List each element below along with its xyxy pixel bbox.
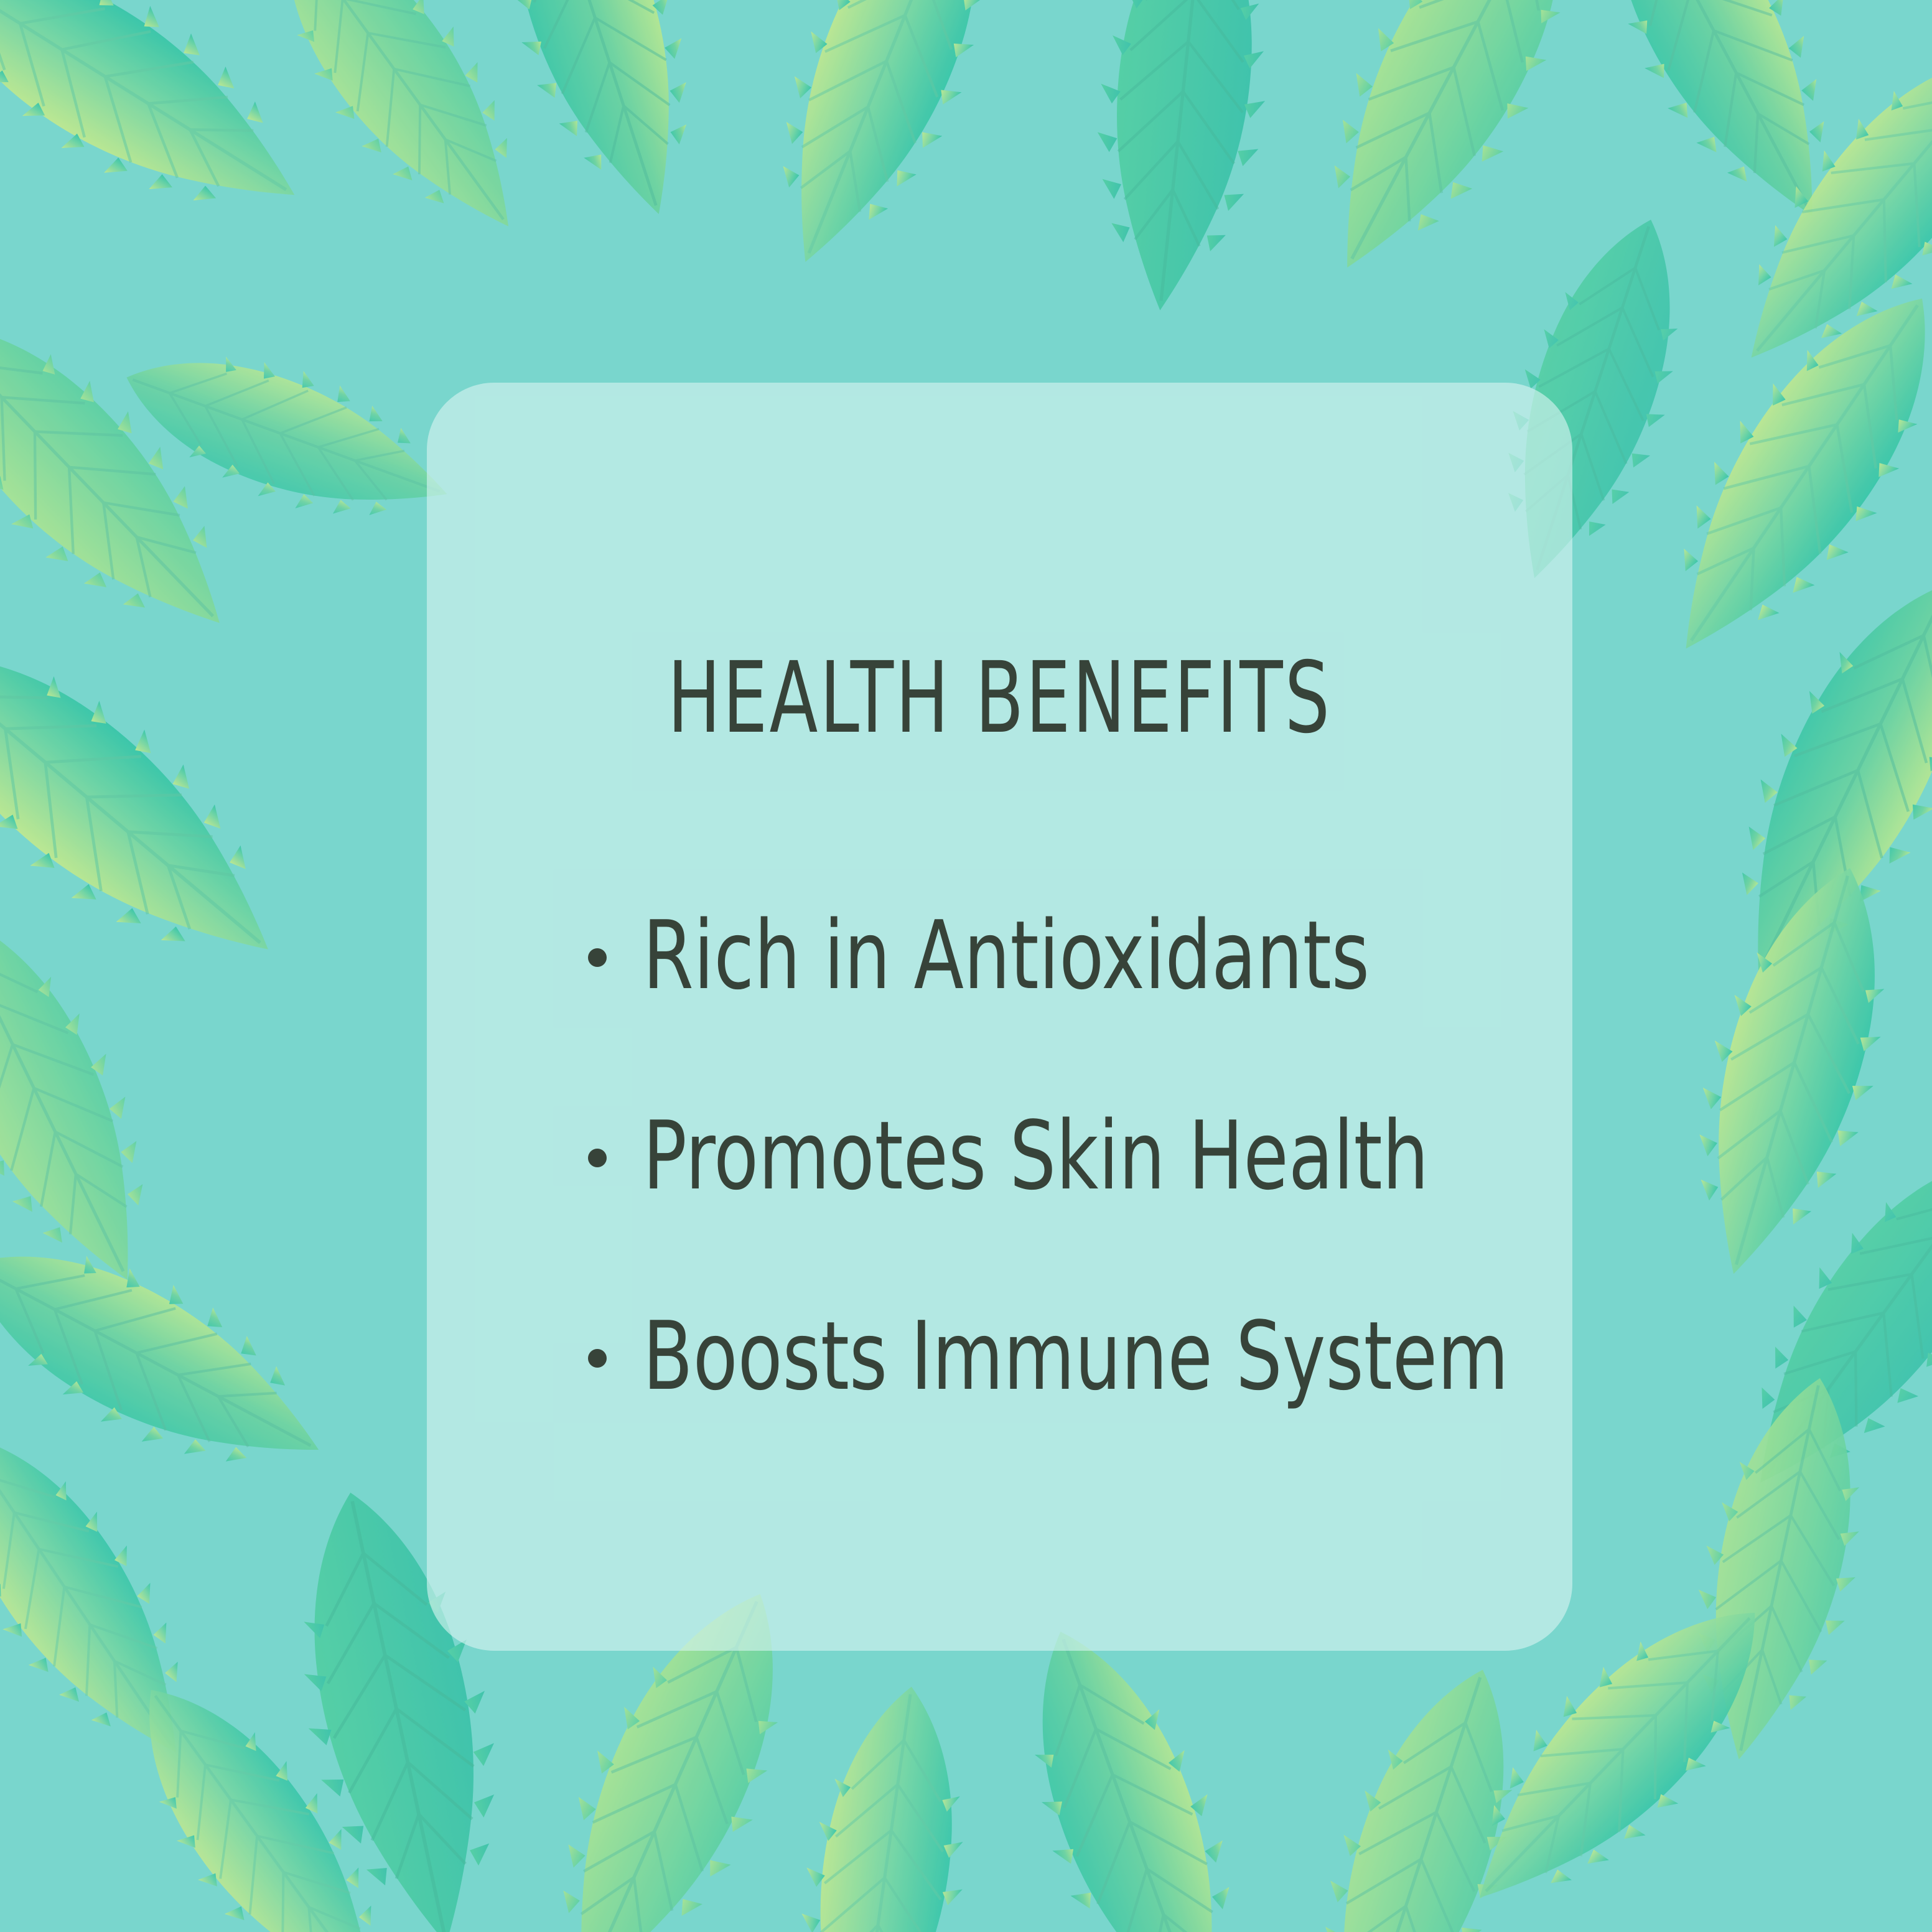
page-title: HEALTH BENEFITS <box>541 649 1458 747</box>
bullet-dot-icon <box>588 1149 607 1167</box>
benefits-list: Rich in Antioxidants Promotes Skin Healt… <box>427 856 1572 1457</box>
benefit-label: Boosts Immune System <box>643 1309 1509 1404</box>
content-card: HEALTH BENEFITS Rich in Antioxidants Pro… <box>427 383 1572 1651</box>
bullet-dot-icon <box>588 1349 607 1368</box>
list-item: Rich in Antioxidants <box>427 856 1572 1056</box>
benefit-label: Rich in Antioxidants <box>643 908 1370 1003</box>
benefit-label: Promotes Skin Health <box>643 1109 1429 1203</box>
poster-canvas: HEALTH BENEFITS Rich in Antioxidants Pro… <box>0 0 1932 1932</box>
bullet-dot-icon <box>588 948 607 967</box>
list-item: Promotes Skin Health <box>427 1056 1572 1256</box>
list-item: Boosts Immune System <box>427 1256 1572 1457</box>
